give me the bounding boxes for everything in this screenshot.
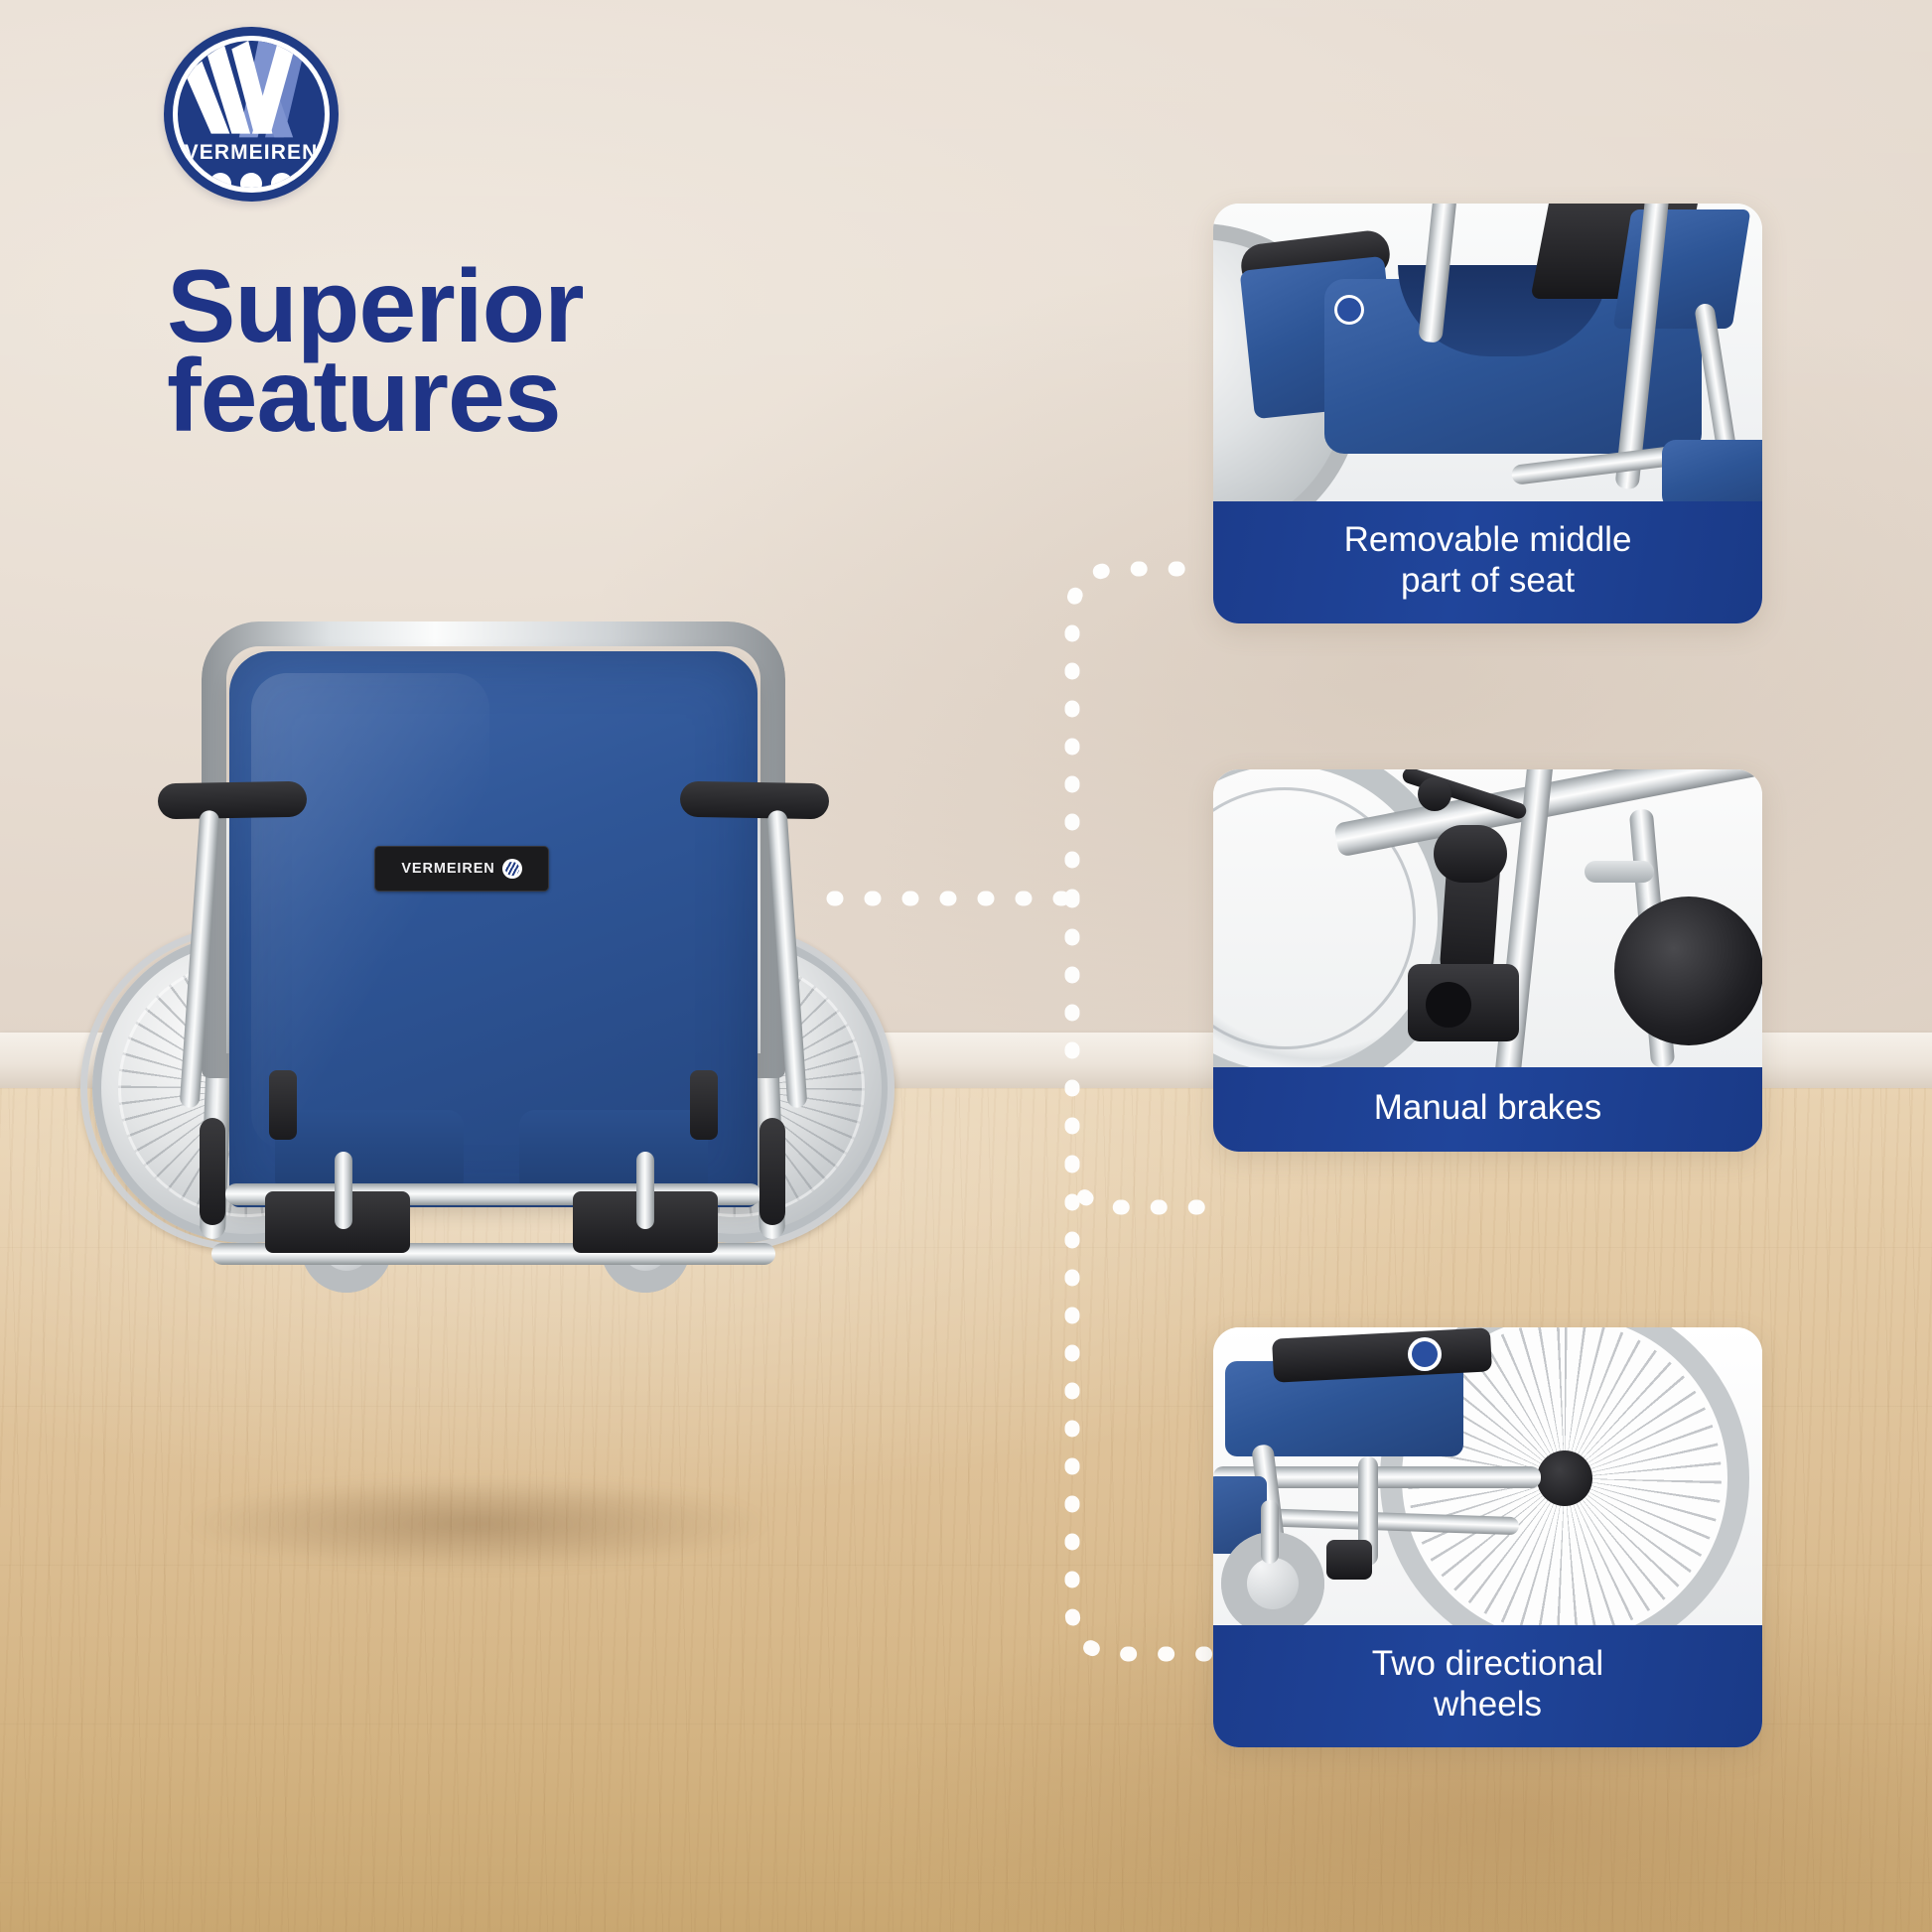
page-title: Superior features [167, 260, 921, 444]
poster-canvas: VERMEIREN Superior features [0, 0, 1932, 1932]
feature-card-removable-seat[interactable]: Removable middle part of seat [1213, 204, 1762, 623]
logo-inner-circle: VERMEIREN [173, 36, 330, 193]
vermeiren-logo: VERMEIREN [164, 27, 339, 202]
feature-card-manual-brakes[interactable]: Manual brakes [1213, 769, 1762, 1152]
feature-caption-directional-wheels: Two directional wheels [1213, 1625, 1762, 1747]
armrest-right [680, 781, 830, 820]
product-badge-text: VERMEIREN [401, 861, 494, 877]
feature-photo-removable-seat [1213, 204, 1762, 501]
push-handle-right [759, 1118, 785, 1225]
feature-photo-directional-wheels [1213, 1327, 1762, 1625]
feature-photo-manual-brakes [1213, 769, 1762, 1067]
feature-card-directional-wheels[interactable]: Two directional wheels [1213, 1327, 1762, 1747]
product-badge: VERMEIREN [374, 846, 549, 892]
product-badge-icon [502, 859, 522, 879]
feature-caption-manual-brakes: Manual brakes [1213, 1067, 1762, 1152]
caption-line-2: wheels [1231, 1684, 1744, 1725]
wheelchair-product-image: VERMEIREN [84, 635, 898, 1529]
caption-line-1: Manual brakes [1231, 1087, 1744, 1128]
caption-line-1: Removable middle [1231, 519, 1744, 560]
feature-caption-removable-seat: Removable middle part of seat [1213, 501, 1762, 623]
brake-lever-left [269, 1070, 297, 1140]
logo-w-monogram-icon [178, 41, 325, 188]
castor-fork-left [335, 1152, 352, 1229]
brake-lever-right [690, 1070, 718, 1140]
castor-fork-right [636, 1152, 654, 1229]
logo-dot [240, 173, 262, 193]
push-handle-left [200, 1118, 225, 1225]
caption-line-2: part of seat [1231, 560, 1744, 601]
armrest-left [158, 781, 308, 820]
caption-line-1: Two directional [1231, 1643, 1744, 1684]
logo-wordmark: VERMEIREN [178, 141, 325, 165]
logo-dots [178, 173, 325, 193]
headline-line-2: features [167, 349, 921, 445]
